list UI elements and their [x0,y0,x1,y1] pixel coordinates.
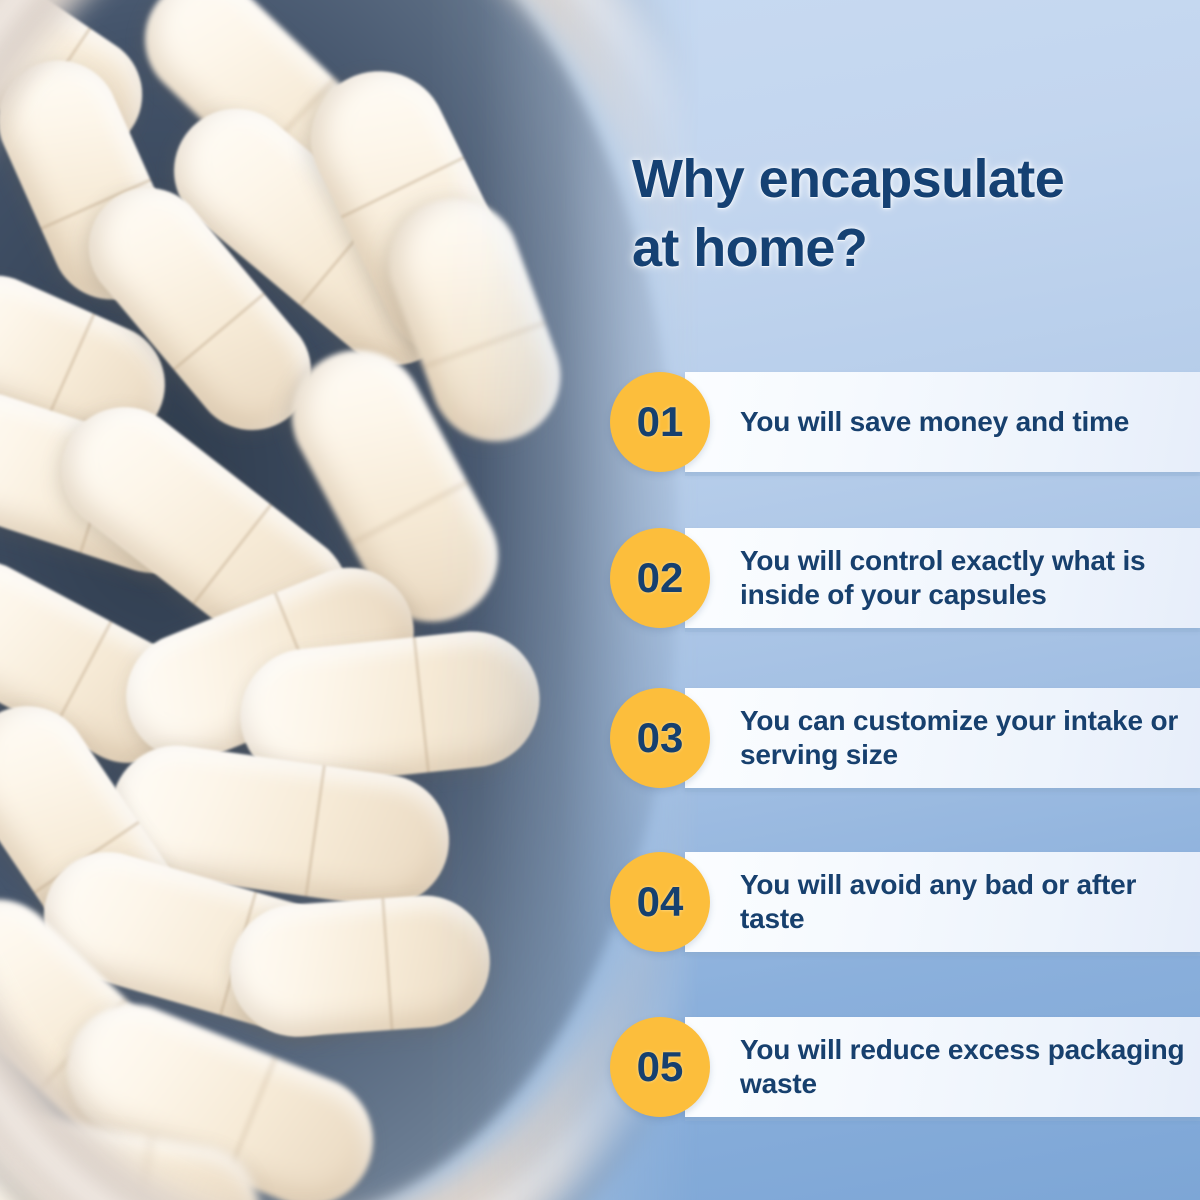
benefit-item-03[interactable]: 03 You can customize your intake or serv… [600,688,1200,788]
benefit-number-badge: 01 [610,372,710,472]
benefit-text: You will avoid any bad or after taste [740,868,1188,936]
benefit-number: 01 [637,398,684,446]
benefit-item-02[interactable]: 02 You will control exactly what is insi… [600,528,1200,628]
page-title-line-2: at home? [632,218,867,278]
benefit-text: You will save money and time [740,405,1188,439]
benefit-number-badge: 02 [610,528,710,628]
page-title-line-1: Why encapsulate [632,149,1064,209]
benefit-number: 02 [637,554,684,602]
capsules-photo [0,0,700,1200]
benefit-number-badge: 05 [610,1017,710,1117]
benefit-text: You will reduce excess packaging waste [740,1033,1188,1101]
benefit-number-badge: 04 [610,852,710,952]
jar-rim-highlight [0,0,700,1200]
benefit-number: 03 [637,714,684,762]
page-title: Why encapsulate at home? [632,145,1192,283]
benefit-number: 04 [637,878,684,926]
benefit-item-05[interactable]: 05 You will reduce excess packaging wast… [600,1017,1200,1117]
benefit-text: You can customize your intake or serving… [740,704,1188,772]
infographic-canvas: Why encapsulate at home? 01 You will sav… [0,0,1200,1200]
benefit-number: 05 [637,1043,684,1091]
content-panel: Why encapsulate at home? 01 You will sav… [600,0,1200,1200]
benefit-item-01[interactable]: 01 You will save money and time [600,372,1200,472]
benefit-number-badge: 03 [610,688,710,788]
benefit-text: You will control exactly what is inside … [740,544,1188,612]
benefit-item-04[interactable]: 04 You will avoid any bad or after taste [600,852,1200,952]
